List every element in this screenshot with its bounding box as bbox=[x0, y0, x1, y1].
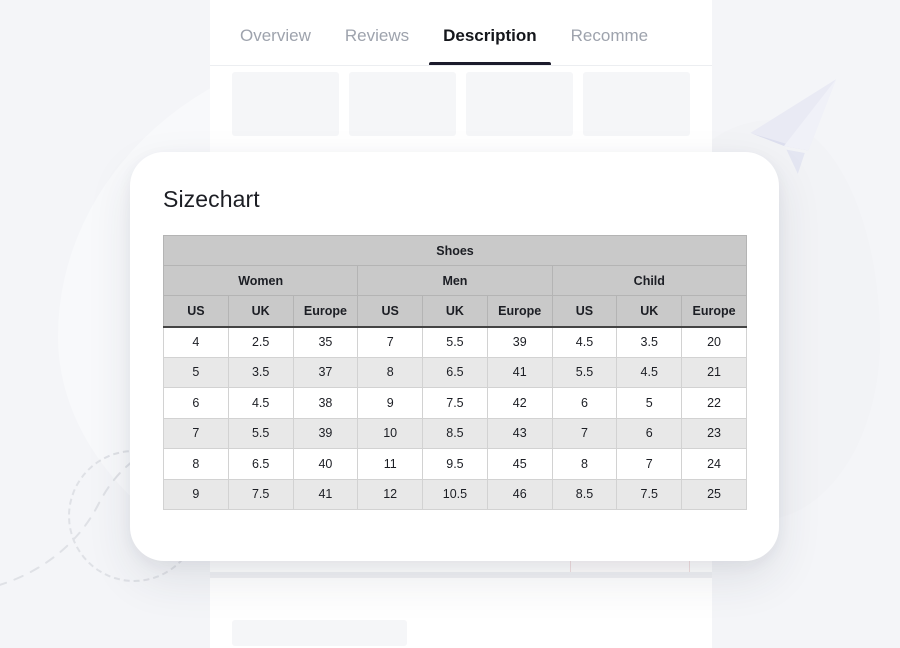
modal-title: Sizechart bbox=[163, 186, 779, 213]
table-title-row: Shoes bbox=[164, 236, 747, 266]
table-cell: 12 bbox=[358, 479, 423, 510]
table-row: 42.53575.5394.53.520 bbox=[164, 327, 747, 358]
table-cell: 41 bbox=[293, 479, 358, 510]
table-row: 86.540119.5458724 bbox=[164, 449, 747, 480]
table-body: 42.53575.5394.53.52053.53786.5415.54.521… bbox=[164, 327, 747, 510]
table-cell: 8 bbox=[164, 449, 229, 480]
table-cell: 22 bbox=[682, 388, 747, 419]
column-header: Europe bbox=[487, 296, 552, 327]
table-cell: 43 bbox=[487, 418, 552, 449]
column-header: UK bbox=[423, 296, 488, 327]
table-cell: 6 bbox=[617, 418, 682, 449]
tab-description[interactable]: Description bbox=[443, 0, 537, 66]
table-cell: 3.5 bbox=[617, 327, 682, 358]
table-cell: 7 bbox=[617, 449, 682, 480]
placeholder-card bbox=[583, 72, 690, 136]
table-cell: 39 bbox=[293, 418, 358, 449]
placeholder-card bbox=[232, 72, 339, 136]
table-cell: 6 bbox=[552, 388, 617, 419]
table-cell: 5 bbox=[164, 357, 229, 388]
table-row: 75.539108.5437623 bbox=[164, 418, 747, 449]
table-cell: 7.5 bbox=[617, 479, 682, 510]
table-cell: 10 bbox=[358, 418, 423, 449]
table-cell: 8.5 bbox=[423, 418, 488, 449]
table-cell: 8 bbox=[358, 357, 423, 388]
group-header-men: Men bbox=[358, 266, 552, 296]
table-row: 53.53786.5415.54.521 bbox=[164, 357, 747, 388]
table-cell: 5.5 bbox=[552, 357, 617, 388]
table-cell: 45 bbox=[487, 449, 552, 480]
table-cell: 11 bbox=[358, 449, 423, 480]
table-cell: 9 bbox=[164, 479, 229, 510]
table-cell: 7.5 bbox=[228, 479, 293, 510]
group-header-women: Women bbox=[164, 266, 358, 296]
table-cell: 5.5 bbox=[228, 418, 293, 449]
table-cell: 35 bbox=[293, 327, 358, 358]
table-cell: 10.5 bbox=[423, 479, 488, 510]
table-cell: 4.5 bbox=[552, 327, 617, 358]
table-cell: 3.5 bbox=[228, 357, 293, 388]
table-cell: 5 bbox=[617, 388, 682, 419]
table-cell: 9 bbox=[358, 388, 423, 419]
group-header-child: Child bbox=[552, 266, 746, 296]
table-cell: 23 bbox=[682, 418, 747, 449]
column-header: US bbox=[164, 296, 229, 327]
sizechart-table: Shoes Women Men Child US UK Europe US UK… bbox=[163, 235, 747, 510]
table-cell: 4.5 bbox=[617, 357, 682, 388]
sizechart-modal: Sizechart Shoes Women Men Child US UK Eu… bbox=[130, 152, 779, 561]
tab-recommended[interactable]: Recomme bbox=[571, 0, 648, 66]
table-cell: 24 bbox=[682, 449, 747, 480]
placeholder-card bbox=[466, 72, 573, 136]
table-group-row: Women Men Child bbox=[164, 266, 747, 296]
table-title-cell: Shoes bbox=[164, 236, 747, 266]
table-cell: 6.5 bbox=[228, 449, 293, 480]
table-cell: 25 bbox=[682, 479, 747, 510]
table-cell: 8.5 bbox=[552, 479, 617, 510]
table-cell: 8 bbox=[552, 449, 617, 480]
table-row: 64.53897.5426522 bbox=[164, 388, 747, 419]
tab-bar: Overview Reviews Description Recomme bbox=[210, 0, 712, 66]
placeholder-card bbox=[349, 72, 456, 136]
table-cell: 4.5 bbox=[228, 388, 293, 419]
table-cell: 40 bbox=[293, 449, 358, 480]
column-header: US bbox=[358, 296, 423, 327]
table-cell: 21 bbox=[682, 357, 747, 388]
table-cell: 42 bbox=[487, 388, 552, 419]
lower-placeholder bbox=[232, 620, 407, 646]
table-cell: 4 bbox=[164, 327, 229, 358]
table-cell: 6 bbox=[164, 388, 229, 419]
table-head: Shoes Women Men Child US UK Europe US UK… bbox=[164, 236, 747, 327]
table-cell: 5.5 bbox=[423, 327, 488, 358]
table-cell: 7.5 bbox=[423, 388, 488, 419]
column-header: Europe bbox=[682, 296, 747, 327]
tab-overview[interactable]: Overview bbox=[240, 0, 311, 66]
table-cell: 7 bbox=[552, 418, 617, 449]
column-header: Europe bbox=[293, 296, 358, 327]
column-header: UK bbox=[228, 296, 293, 327]
tab-reviews[interactable]: Reviews bbox=[345, 0, 409, 66]
table-cell: 6.5 bbox=[423, 357, 488, 388]
table-cell: 2.5 bbox=[228, 327, 293, 358]
table-cell: 38 bbox=[293, 388, 358, 419]
table-cell: 9.5 bbox=[423, 449, 488, 480]
table-cell: 7 bbox=[164, 418, 229, 449]
table-cell: 37 bbox=[293, 357, 358, 388]
table-cell: 41 bbox=[487, 357, 552, 388]
table-cell: 7 bbox=[358, 327, 423, 358]
table-column-row: US UK Europe US UK Europe US UK Europe bbox=[164, 296, 747, 327]
table-row: 97.5411210.5468.57.525 bbox=[164, 479, 747, 510]
table-cell: 20 bbox=[682, 327, 747, 358]
column-header: US bbox=[552, 296, 617, 327]
table-cell: 46 bbox=[487, 479, 552, 510]
column-header: UK bbox=[617, 296, 682, 327]
placeholder-card-row bbox=[210, 66, 712, 136]
table-cell: 39 bbox=[487, 327, 552, 358]
